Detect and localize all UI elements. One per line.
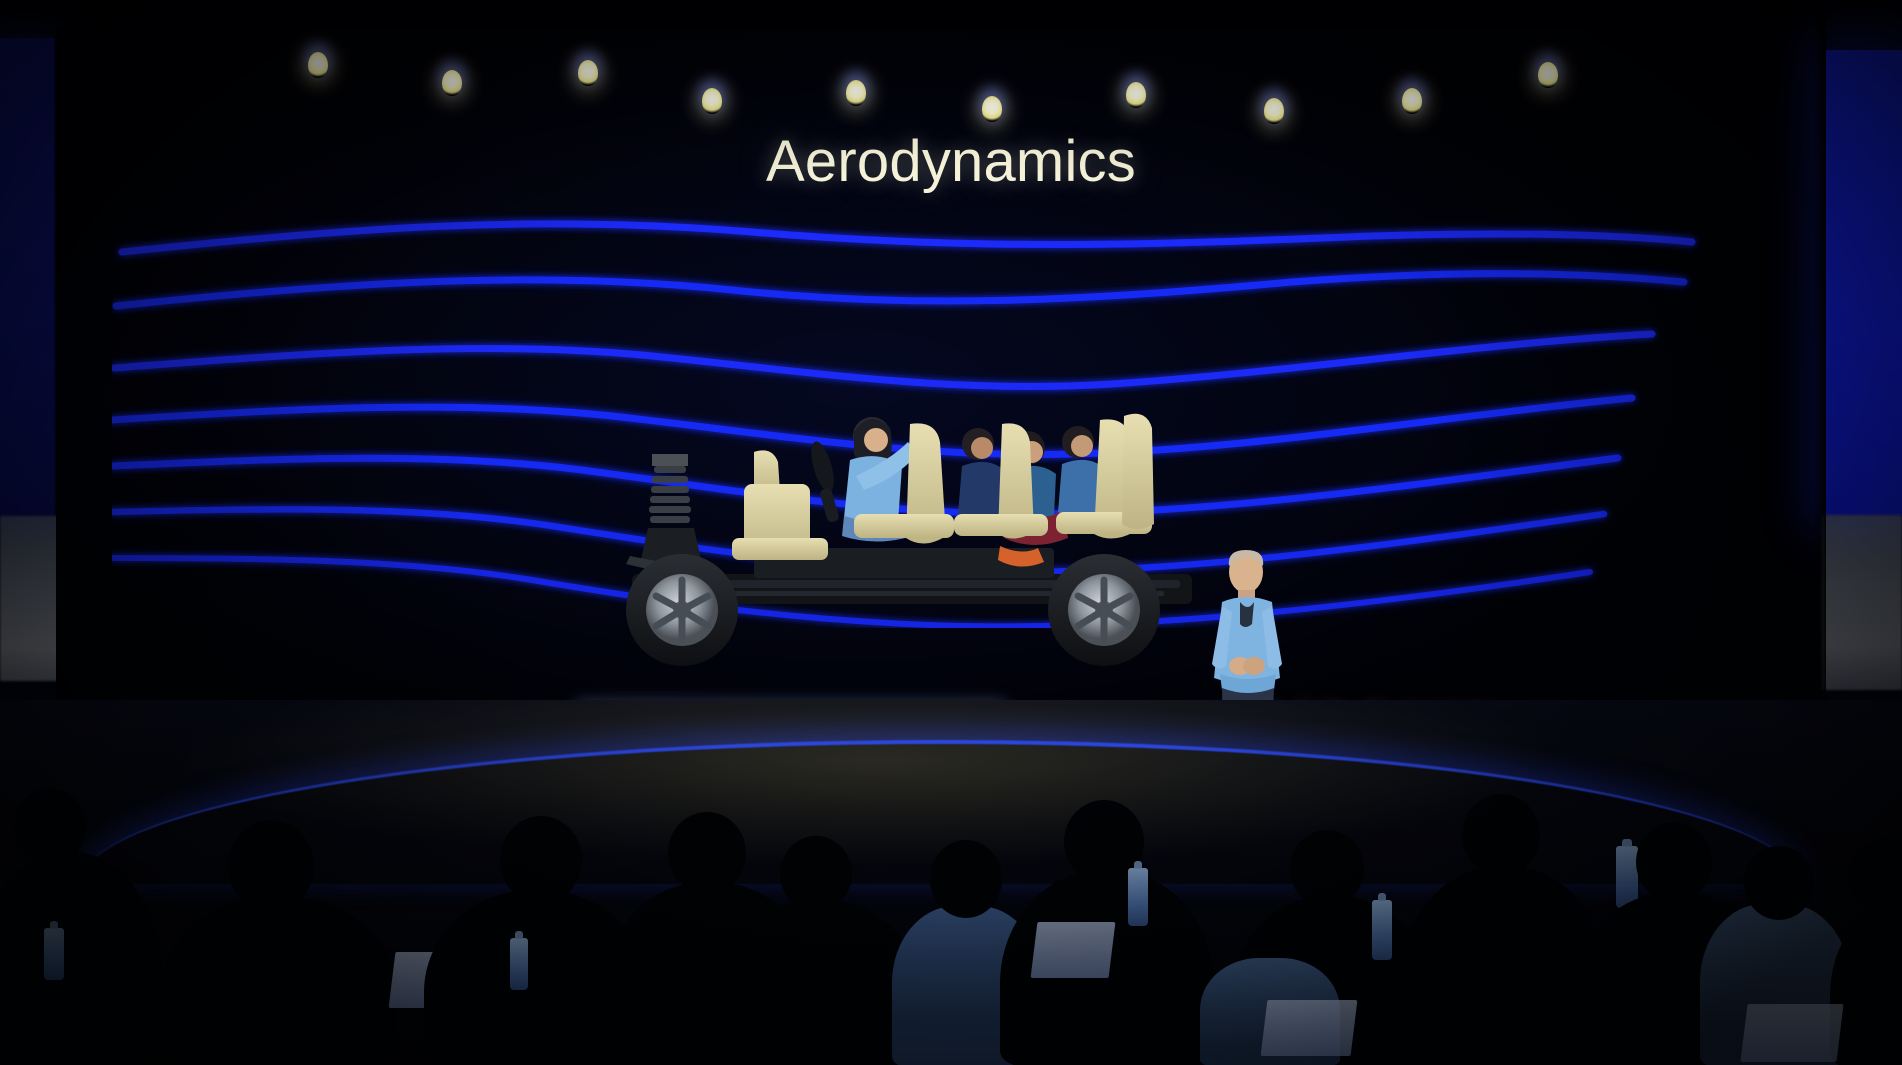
keynote-scene: Aerodynamics Battery size 100.0 kWh Ford… <box>0 0 1902 1065</box>
overhead-stage-light <box>982 96 1002 122</box>
overhead-stage-light <box>308 52 328 78</box>
overhead-stage-light <box>1538 62 1558 88</box>
right-blue-wall-panel <box>1825 50 1902 515</box>
audience-head <box>930 840 1002 918</box>
overhead-stage-light <box>846 80 866 106</box>
water-bottle <box>44 928 64 980</box>
overhead-stage-light <box>1264 98 1284 124</box>
water-bottle <box>1372 900 1392 960</box>
water-bottle <box>1128 868 1148 926</box>
ev-skateboard-chassis-cutaway <box>604 388 1224 688</box>
overhead-stage-light <box>702 88 722 114</box>
laptop-screen <box>1031 922 1116 978</box>
left-blue-wall-panel <box>0 38 54 516</box>
overhead-stage-light <box>1402 88 1422 114</box>
laptop-screen <box>1740 1004 1843 1062</box>
left-wall-base <box>0 516 58 681</box>
laptop-screen <box>1261 1000 1358 1056</box>
audience-head <box>1636 822 1712 902</box>
wall-seam <box>1812 0 1826 700</box>
overhead-stage-light <box>442 70 462 96</box>
overhead-stage-light <box>578 60 598 86</box>
slide-title: Aerodynamics <box>0 128 1902 195</box>
right-wall-base <box>1822 515 1902 690</box>
audience-head <box>1744 846 1814 920</box>
audience-head <box>1462 794 1540 876</box>
overhead-stage-light <box>1126 82 1146 108</box>
water-bottle <box>510 938 528 990</box>
